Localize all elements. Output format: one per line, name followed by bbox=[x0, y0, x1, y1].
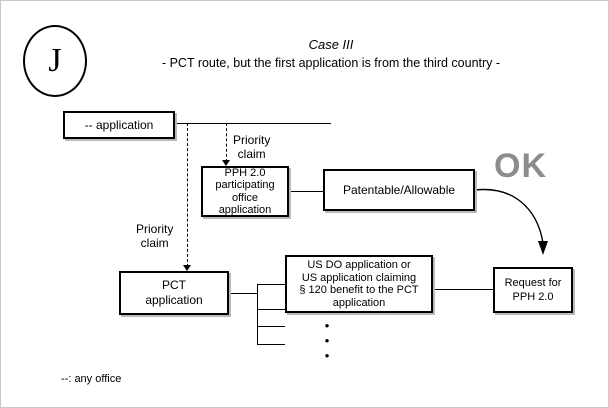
fork-spine bbox=[257, 284, 258, 344]
box-application-label: -- application bbox=[85, 119, 154, 132]
dot-3: • bbox=[323, 348, 331, 363]
fork-branch-2 bbox=[257, 309, 285, 310]
curved-arrow-patentable-to-request bbox=[467, 177, 567, 263]
box-request-label: Request for PPH 2.0 bbox=[505, 276, 562, 304]
box-us-do-label: US DO application or US application clai… bbox=[299, 259, 418, 309]
box-pph-label: PPH 2.0 participating office application bbox=[215, 167, 274, 217]
box-pct-label: PCT application bbox=[145, 278, 202, 308]
priority-claim-label-top: Priority claim bbox=[233, 133, 270, 161]
box-application: -- application bbox=[63, 111, 175, 139]
page-subtitle: - PCT route, but the first application i… bbox=[76, 56, 586, 70]
box-patentable-allowable: Patentable/Allowable bbox=[323, 169, 475, 211]
fork-branch-1 bbox=[257, 284, 285, 285]
dot-2: • bbox=[323, 333, 331, 348]
fork-branch-4 bbox=[257, 344, 285, 345]
connector-pph-to-patentable bbox=[289, 191, 323, 192]
case-iii-flow-diagram: J Case III - PCT route, but the first ap… bbox=[0, 0, 609, 408]
priority-claim-top-line1: Priority claim bbox=[233, 133, 270, 161]
legend-any-office: --: any office bbox=[61, 373, 121, 385]
priority-claim-dashed-line-to-pct bbox=[187, 123, 188, 267]
box-pct-application: PCT application bbox=[119, 271, 229, 315]
fork-branch-3 bbox=[257, 326, 285, 327]
priority-claim-dashed-line-to-pph bbox=[226, 123, 227, 162]
box-patentable-label: Patentable/Allowable bbox=[343, 184, 455, 197]
priority-claim-label-left: Priority claim bbox=[136, 222, 173, 250]
continuation-dots: • • • bbox=[323, 318, 331, 363]
box-pph-participating-office: PPH 2.0 participating office application bbox=[201, 166, 289, 217]
connector-pct-to-fork bbox=[229, 293, 257, 294]
box-us-do-application: US DO application or US application clai… bbox=[285, 255, 433, 313]
priority-claim-left-line1: Priority claim bbox=[136, 222, 173, 250]
box-request-pph: Request for PPH 2.0 bbox=[493, 267, 573, 313]
page-title: Case III bbox=[96, 37, 566, 52]
connector-usdo-to-request bbox=[433, 289, 493, 290]
dot-1: • bbox=[323, 318, 331, 333]
connector-application-horizontal bbox=[175, 123, 331, 124]
